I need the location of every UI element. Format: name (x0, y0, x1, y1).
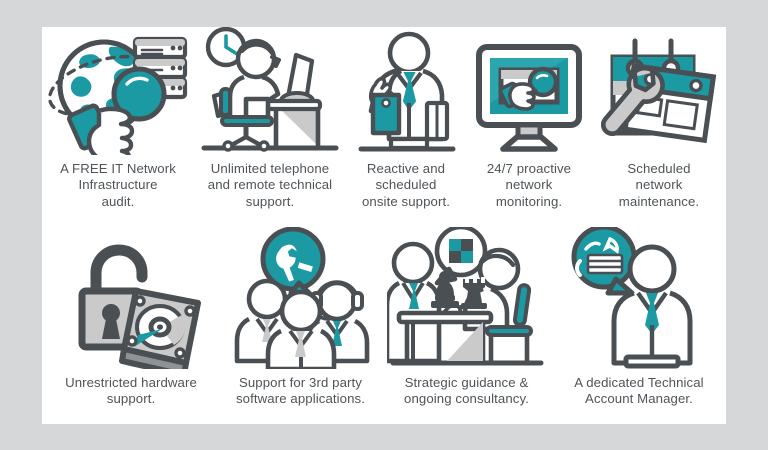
feature-item-onsite-support[interactable]: Reactive and scheduled onsite support. (346, 27, 466, 227)
feature-item-strategic-guidance[interactable]: Strategic guidance & ongoing consultancy… (381, 227, 552, 424)
team-wrench-speech-bubble-icon (227, 227, 375, 369)
feature-item-network-audit[interactable]: A FREE IT Network Infrastructure audit. (42, 27, 194, 227)
monitor-magnifier-icon (471, 27, 587, 155)
feature-item-network-maintenance[interactable]: Scheduled network maintenance. (592, 27, 726, 227)
features-card: A FREE IT Network Infrastructure audit. (42, 27, 726, 424)
onsite-engineer-tag-briefcase-icon (351, 27, 461, 155)
feature-item-account-manager[interactable]: A dedicated Technical Account Manager. (552, 227, 726, 424)
globe-magnifier-server-icon (47, 27, 189, 155)
feature-caption: Scheduled network maintenance. (619, 161, 699, 210)
feature-caption: Unlimited telephone and remote technical… (208, 161, 332, 210)
feature-row-bottom: Unrestricted hardware support. (42, 227, 726, 424)
feature-caption: Unrestricted hardware support. (65, 375, 197, 408)
feature-caption: Strategic guidance & ongoing consultancy… (404, 375, 529, 408)
feature-row-top: A FREE IT Network Infrastructure audit. (42, 27, 726, 227)
feature-caption: Reactive and scheduled onsite support. (362, 161, 450, 210)
feature-item-network-monitoring[interactable]: 24/7 proactive network monitoring. (466, 27, 592, 227)
open-padlock-harddrive-icon (56, 227, 206, 369)
calendar-wrench-icon (597, 27, 721, 155)
account-manager-speech-bubble-icon (566, 227, 712, 369)
feature-item-third-party-software[interactable]: Support for 3rd party software applicati… (220, 227, 381, 424)
feature-caption: 24/7 proactive network monitoring. (487, 161, 571, 210)
feature-caption: A FREE IT Network Infrastructure audit. (60, 161, 176, 210)
feature-caption: A dedicated Technical Account Manager. (574, 375, 703, 408)
helpdesk-agent-desk-clock-icon (200, 27, 340, 155)
feature-item-hardware-support[interactable]: Unrestricted hardware support. (42, 227, 220, 424)
feature-item-telephone-support[interactable]: Unlimited telephone and remote technical… (194, 27, 346, 227)
feature-caption: Support for 3rd party software applicati… (236, 375, 365, 408)
consultancy-chess-table-icon (387, 227, 547, 369)
